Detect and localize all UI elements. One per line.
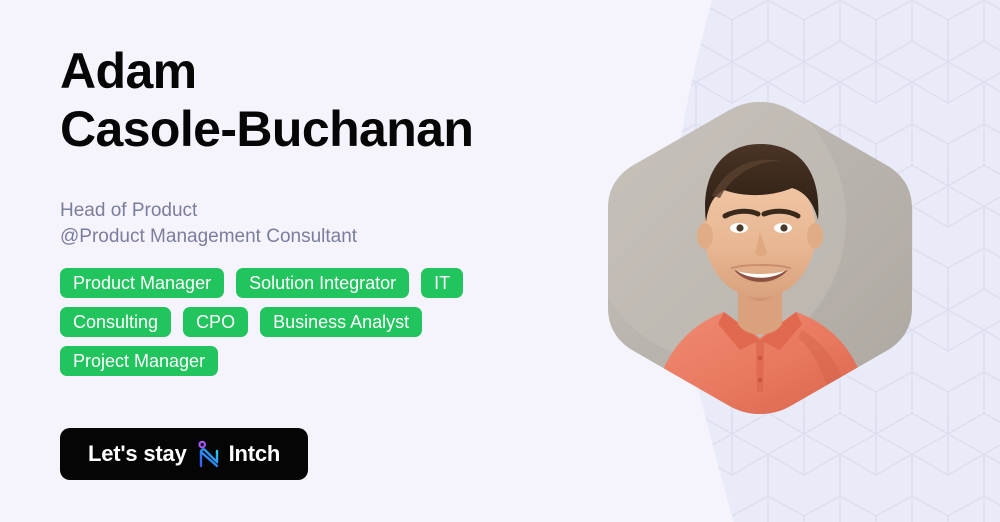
lets-stay-intch-button[interactable]: Let's stay [60,428,308,480]
page-title: Adam Casole-Buchanan [60,42,473,158]
cta-brand-name: Intch [229,441,281,467]
skill-tag[interactable]: Business Analyst [260,307,422,337]
cta-text-before: Let's stay [88,441,187,467]
profile-card: Adam Casole-Buchanan Head of Product @Pr… [0,0,1000,522]
skill-tag[interactable]: Product Manager [60,268,224,298]
skill-tag-list: Product Manager Solution Integrator IT C… [60,268,580,376]
skill-tag[interactable]: Consulting [60,307,171,337]
avatar-photo [606,100,914,416]
avatar-alt-text: Smiling man with short dark hair wearing… [0,0,1,1]
profile-headline: Head of Product @Product Management Cons… [60,198,357,250]
profile-content: Adam Casole-Buchanan Head of Product @Pr… [60,0,620,522]
skill-tag[interactable]: Project Manager [60,346,218,376]
intch-n-logo-icon [196,440,222,470]
skill-tag[interactable]: CPO [183,307,248,337]
skill-tag[interactable]: Solution Integrator [236,268,409,298]
skill-tag[interactable]: IT [421,268,463,298]
avatar [606,100,914,416]
